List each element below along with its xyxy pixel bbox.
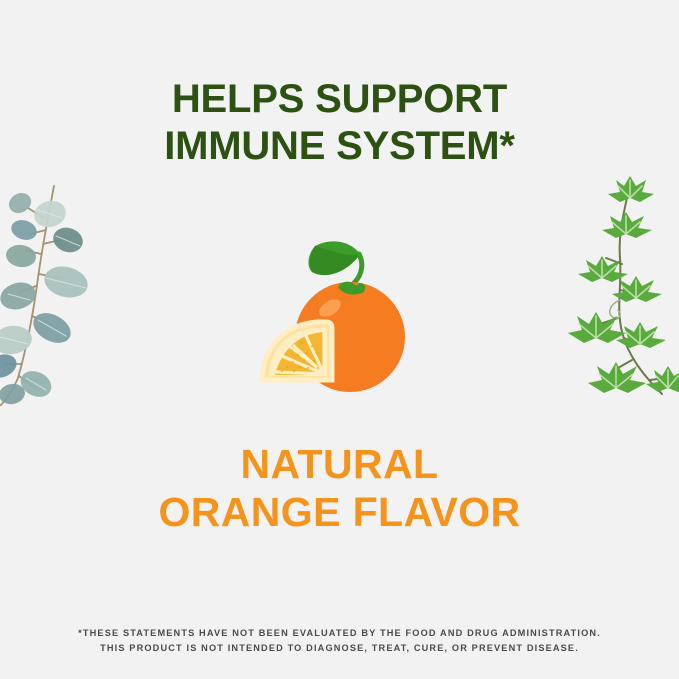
disclaimer-line-1: *THESE STATEMENTS HAVE NOT BEEN EVALUATE…	[0, 626, 679, 641]
flavor-line-1: NATURAL	[0, 440, 679, 488]
headline-line-2: IMMUNE SYSTEM*	[0, 123, 679, 170]
orange-fruit-icon	[252, 230, 432, 400]
disclaimer-line-2: THIS PRODUCT IS NOT INTENDED TO DIAGNOSE…	[0, 641, 679, 656]
headline-line-1: HELPS SUPPORT	[0, 76, 679, 123]
eucalyptus-branch-icon	[0, 178, 114, 406]
flavor-line-2: ORANGE FLAVOR	[0, 488, 679, 536]
flavor-text-block: NATURAL ORANGE FLAVOR	[0, 440, 679, 536]
ivy-vine-icon	[566, 172, 679, 404]
headline-text-block: HELPS SUPPORT IMMUNE SYSTEM*	[0, 76, 679, 170]
product-infographic-panel: HELPS SUPPORT IMMUNE SYSTEM*	[0, 0, 679, 679]
fda-disclaimer-block: *THESE STATEMENTS HAVE NOT BEEN EVALUATE…	[0, 626, 679, 656]
